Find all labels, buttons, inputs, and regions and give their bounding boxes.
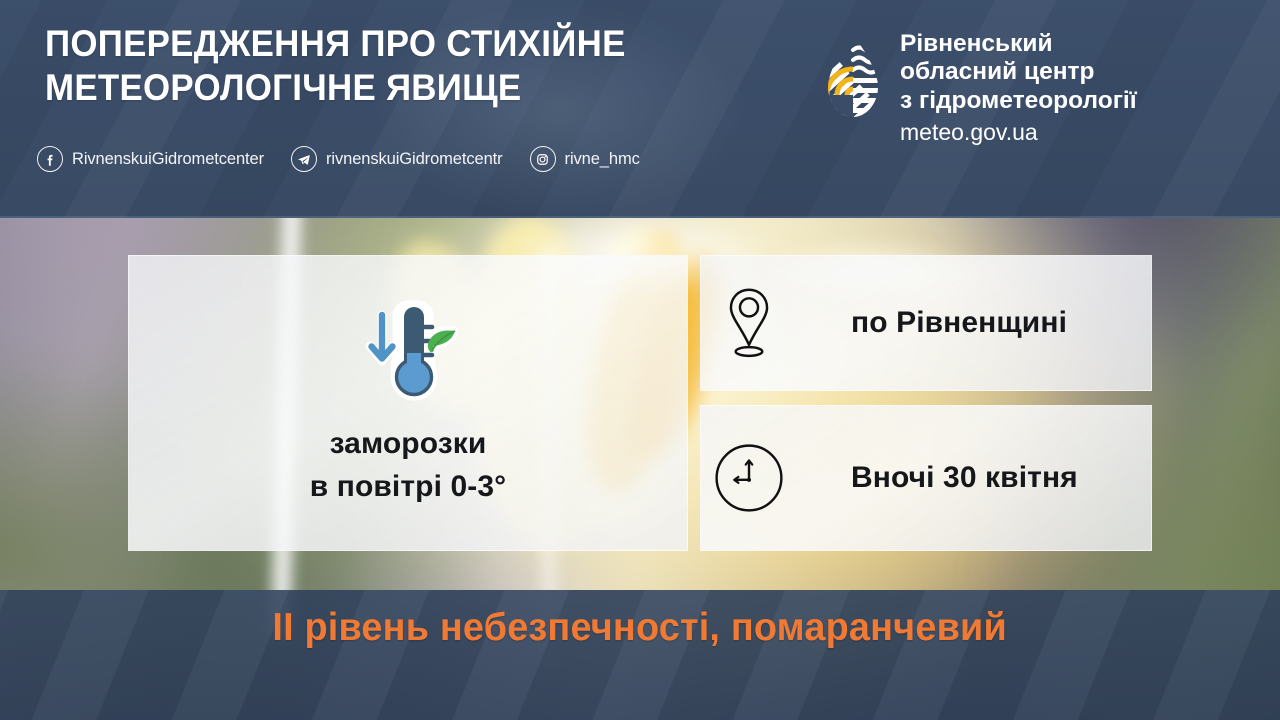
social-handle: rivnenskuiGidrometcentr (326, 150, 503, 169)
header-band: ПОПЕРЕДЖЕННЯ ПРО СТИХІЙНЕ МЕТЕОРОЛОГІЧНЕ… (0, 0, 1280, 218)
water-drop-logo-icon (822, 33, 884, 121)
warning-level-text: II рівень небезпечності, помаранчевий (273, 606, 1008, 650)
logo-line-1: Рівненський (900, 30, 1137, 58)
logo-text-block: Рівненський обласний центр з гідрометеор… (900, 30, 1137, 147)
social-handle: rivne_hmc (565, 150, 640, 169)
location-pin-icon (701, 285, 797, 361)
page-title: ПОПЕРЕДЖЕННЯ ПРО СТИХІЙНЕ МЕТЕОРОЛОГІЧНЕ… (45, 22, 724, 109)
social-handle: RivnenskuiGidrometcenter (72, 150, 264, 169)
organization-logo[interactable]: Рівненський обласний центр з гідрометеор… (822, 30, 1137, 147)
time-label: Вночі 30 квітня (851, 461, 1078, 495)
hazard-panel: заморозки в повітрі 0-3° (128, 255, 688, 551)
social-link-facebook[interactable]: RivnenskuiGidrometcenter (37, 146, 264, 172)
header-divider (0, 216, 1280, 218)
instagram-icon (530, 146, 556, 172)
telegram-icon (291, 146, 317, 172)
logo-website-url[interactable]: meteo.gov.ua (900, 119, 1137, 147)
social-link-telegram[interactable]: rivnenskuiGidrometcentr (291, 146, 503, 172)
title-block: ПОПЕРЕДЖЕННЯ ПРО СТИХІЙНЕ МЕТЕОРОЛОГІЧНЕ… (45, 22, 775, 109)
footer-band: II рівень небезпечності, помаранчевий (0, 590, 1280, 720)
logo-line-2: обласний центр (900, 58, 1137, 86)
region-panel: по Рівненщині (700, 255, 1152, 391)
time-panel: Вночі 30 квітня (700, 405, 1152, 551)
facebook-icon (37, 146, 63, 172)
clock-icon (701, 441, 797, 515)
hazard-description: заморозки в повітрі 0-3° (310, 423, 506, 508)
region-label: по Рівненщині (851, 306, 1067, 340)
social-links: RivnenskuiGidrometcenter rivnenskuiGidro… (37, 146, 667, 172)
weather-warning-poster: ПОПЕРЕДЖЕННЯ ПРО СТИХІЙНЕ МЕТЕОРОЛОГІЧНЕ… (0, 0, 1280, 720)
thermometer-down-leaf-icon (352, 291, 464, 409)
logo-line-3: з гідрометеорології (900, 87, 1137, 115)
social-link-instagram[interactable]: rivne_hmc (530, 146, 640, 172)
